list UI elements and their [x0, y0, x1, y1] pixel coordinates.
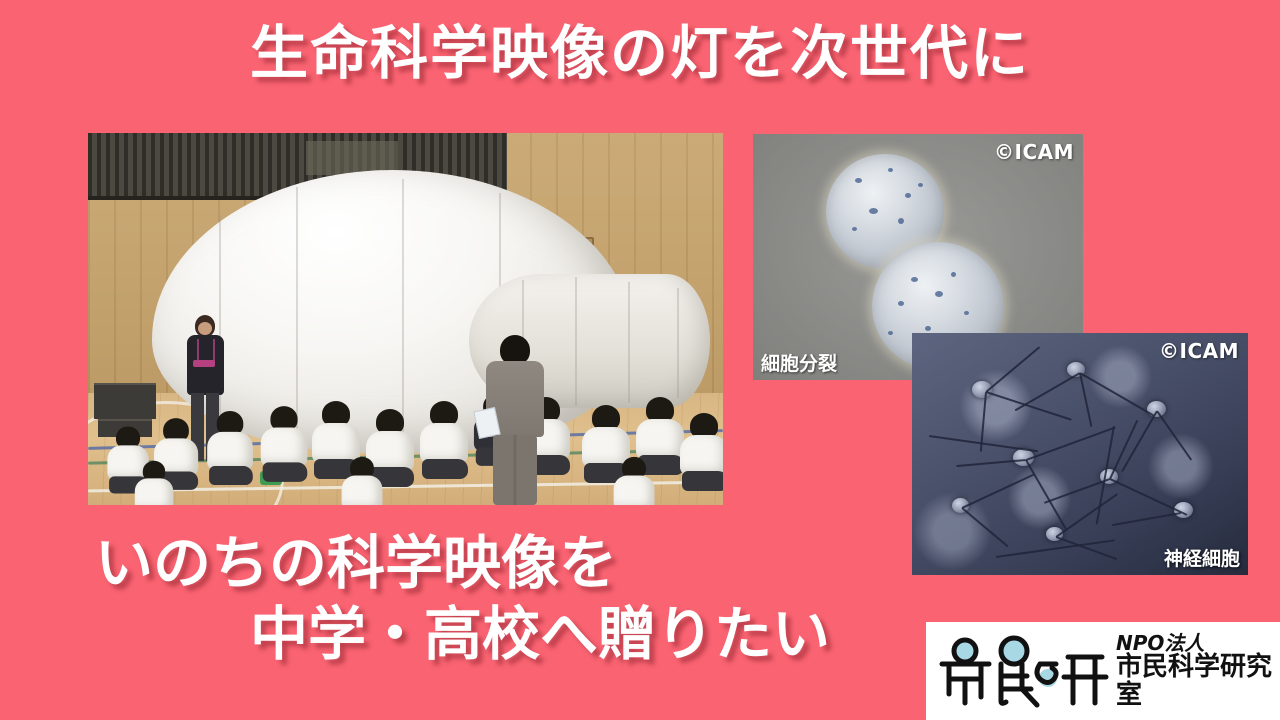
- student-seated: [678, 413, 723, 491]
- logo-text-block: NPO法人 市民科学研究室: [1116, 633, 1280, 709]
- shiminken-logo-icon: [936, 631, 1112, 711]
- standing-teacher: [486, 335, 544, 505]
- photo-dome-screening: [88, 133, 723, 505]
- page-title: 生命科学映像の灯を次世代に: [0, 22, 1280, 86]
- subheadline-line-1: いのちの科学映像を: [0, 528, 1280, 599]
- student-seated: [418, 401, 470, 479]
- copyright-icam-label: ©ICAM: [994, 140, 1074, 164]
- slide-root: 生命科学映像の灯を次世代に: [0, 0, 1280, 720]
- organization-logo-panel: NPO法人 市民科学研究室: [926, 622, 1280, 720]
- student-seated: [259, 406, 309, 482]
- student-seated: [612, 457, 656, 505]
- logo-organization-name: 市民科学研究室: [1116, 654, 1280, 709]
- student-seated: [133, 461, 175, 505]
- student-seated: [340, 457, 384, 505]
- cell-photo-caption: 細胞分裂: [761, 349, 837, 376]
- copyright-icam-label: ©ICAM: [1159, 339, 1239, 363]
- student-seated: [205, 411, 254, 485]
- equipment-crate: [94, 383, 156, 419]
